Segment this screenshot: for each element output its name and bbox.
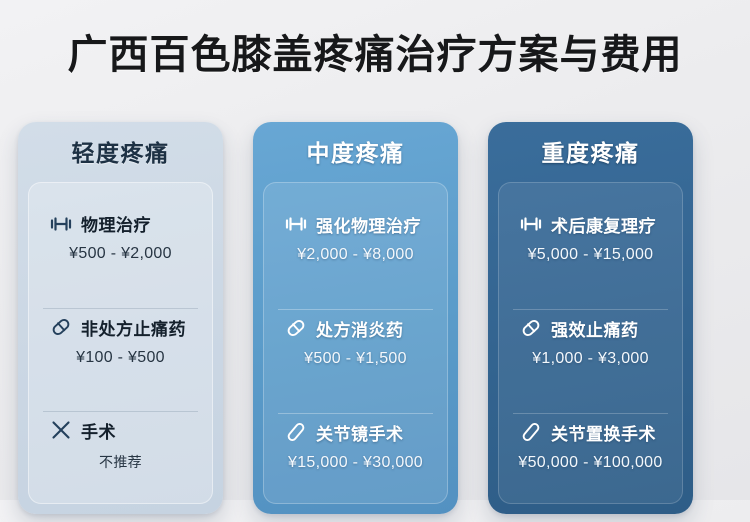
treatment-row-head: 关节置换手术: [509, 420, 672, 445]
treatment-name: 关节置换手术: [551, 420, 656, 445]
treatment-row[interactable]: 非处方止痛药 ¥100 - ¥500: [37, 308, 204, 376]
treatment-price: ¥15,000 - ¥30,000: [274, 454, 437, 472]
treatment-card-severe[interactable]: 重度疼痛 术后康复理疗: [488, 122, 693, 514]
treatment-card-moderate[interactable]: 中度疼痛 强化物理治疗: [253, 122, 458, 514]
treatment-row-head: 非处方止痛药: [39, 315, 202, 340]
crossed-scalpel-icon: [49, 418, 73, 442]
dumbbell-icon: [519, 212, 543, 236]
treatment-name: 手术: [81, 418, 116, 443]
infographic-canvas: 广西百色膝盖疼痛治疗方案与费用 轻度疼痛: [0, 0, 750, 500]
treatment-list-moderate: 强化物理治疗 ¥2,000 - ¥8,000 处方消炎药: [263, 182, 448, 504]
treatment-price: ¥50,000 - ¥100,000: [509, 454, 672, 472]
treatment-row-head: 处方消炎药: [274, 316, 437, 341]
treatment-row[interactable]: 处方消炎药 ¥500 - ¥1,500: [272, 309, 439, 377]
treatment-name: 物理治疗: [81, 211, 151, 236]
card-title-moderate: 中度疼痛: [263, 140, 448, 168]
card-title-mild: 轻度疼痛: [28, 140, 213, 168]
treatment-row[interactable]: 物理治疗 ¥500 - ¥2,000: [37, 204, 204, 272]
treatment-price: ¥2,000 - ¥8,000: [274, 246, 437, 264]
treatment-name: 术后康复理疗: [551, 212, 656, 237]
treatment-price: 不推荐: [39, 452, 202, 472]
treatment-name: 强化物理治疗: [316, 212, 421, 237]
treatment-row[interactable]: 关节镜手术 ¥15,000 - ¥30,000: [272, 413, 439, 481]
pill-icon: [49, 315, 73, 339]
page-title: 广西百色膝盖疼痛治疗方案与费用: [0, 32, 750, 78]
treatment-list-mild: 物理治疗 ¥500 - ¥2,000 非处方止痛药: [28, 182, 213, 504]
treatment-price: ¥500 - ¥2,000: [39, 245, 202, 263]
treatment-card-row: 轻度疼痛 物理治疗: [18, 122, 732, 522]
treatment-row[interactable]: 强化物理治疗 ¥2,000 - ¥8,000: [272, 205, 439, 273]
treatment-row-head: 强化物理治疗: [274, 212, 437, 237]
dumbbell-icon: [49, 212, 73, 236]
treatment-list-severe: 术后康复理疗 ¥5,000 - ¥15,000 强效止痛药: [498, 182, 683, 504]
dumbbell-icon: [284, 212, 308, 236]
treatment-name: 关节镜手术: [316, 420, 404, 445]
treatment-row-head: 术后康复理疗: [509, 212, 672, 237]
scalpel-icon: [519, 420, 543, 444]
treatment-row[interactable]: 强效止痛药 ¥1,000 - ¥3,000: [507, 309, 674, 377]
treatment-row[interactable]: 关节置换手术 ¥50,000 - ¥100,000: [507, 413, 674, 481]
treatment-price: ¥500 - ¥1,500: [274, 350, 437, 368]
treatment-row[interactable]: 术后康复理疗 ¥5,000 - ¥15,000: [507, 205, 674, 273]
treatment-card-mild[interactable]: 轻度疼痛 物理治疗: [18, 122, 223, 514]
treatment-name: 处方消炎药: [316, 316, 404, 341]
pill-icon: [284, 316, 308, 340]
treatment-price: ¥100 - ¥500: [39, 349, 202, 367]
card-title-severe: 重度疼痛: [498, 140, 683, 168]
treatment-name: 非处方止痛药: [81, 315, 186, 340]
treatment-row-head: 手术: [39, 418, 202, 443]
treatment-row-head: 强效止痛药: [509, 316, 672, 341]
treatment-row-head: 物理治疗: [39, 211, 202, 236]
treatment-price: ¥5,000 - ¥15,000: [509, 246, 672, 264]
treatment-row[interactable]: 手术 不推荐: [37, 411, 204, 481]
treatment-name: 强效止痛药: [551, 316, 639, 341]
treatment-row-head: 关节镜手术: [274, 420, 437, 445]
treatment-price: ¥1,000 - ¥3,000: [509, 350, 672, 368]
scalpel-icon: [284, 420, 308, 444]
pill-icon: [519, 316, 543, 340]
